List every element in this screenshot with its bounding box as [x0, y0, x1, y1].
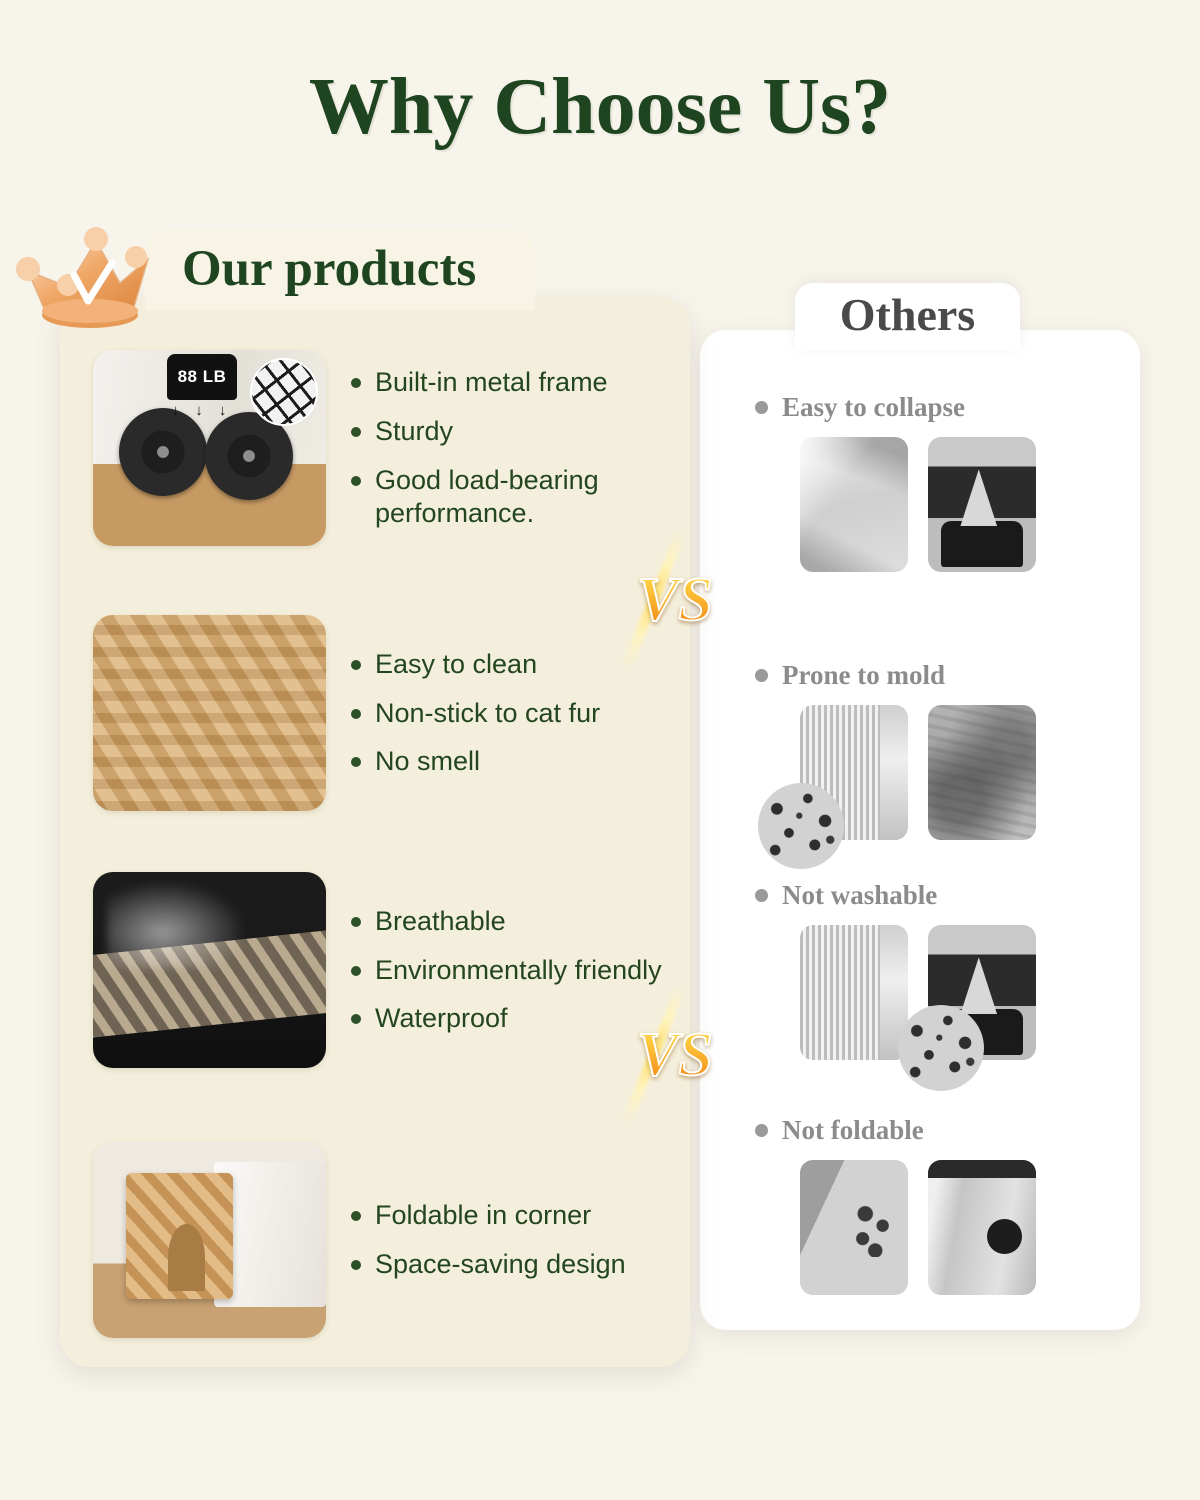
- others-row-heading: Not washable: [700, 880, 1140, 911]
- metal-frame-closeup: [250, 358, 318, 426]
- bullet-label: Built-in metal frame: [375, 366, 608, 399]
- plastic-hooded-box-photo: [928, 1160, 1036, 1295]
- down-arrows-icon: ↓ ↓ ↓: [167, 402, 237, 419]
- others-row-heading: Prone to mold: [700, 660, 1140, 691]
- others-heading-label: Not foldable: [782, 1115, 924, 1146]
- list-item: Breathable: [351, 905, 662, 938]
- product-row-breathable: Breathable Environmentally friendly Wate…: [60, 872, 690, 1068]
- rigid-box-photo: [800, 1160, 908, 1295]
- bullet-dot-icon: [351, 1211, 361, 1221]
- bullet-dot-icon: [755, 401, 768, 414]
- bullet-label: Breathable: [375, 905, 506, 938]
- product-row-foldable: Foldable in corner Space-saving design: [60, 1142, 690, 1338]
- others-row-washable: Not washable: [700, 880, 1140, 1060]
- product-bullet-list: Built-in metal frame Sturdy Good load-be…: [351, 366, 666, 530]
- others-image-pair: [700, 437, 1140, 572]
- bullet-dot-icon: [755, 1124, 768, 1137]
- bullet-dot-icon: [351, 709, 361, 719]
- page-title: Why Choose Us?: [0, 62, 1200, 153]
- bullet-label: Foldable in corner: [375, 1199, 591, 1232]
- weight-plate-left: [119, 408, 207, 496]
- photo-arch-opening: [168, 1224, 205, 1291]
- mold-spores-circle: [758, 783, 844, 869]
- others-heading-label: Prone to mold: [782, 660, 945, 691]
- others-image-pair: [700, 705, 1140, 840]
- others-image-pair: [700, 1160, 1140, 1295]
- product-bullet-list: Easy to clean Non-stick to cat fur No sm…: [351, 648, 600, 779]
- product-row-frame: 88 LB ↓ ↓ ↓ Built-in metal frame Sturdy …: [60, 350, 690, 546]
- bullet-label: Good load-bearing performance.: [375, 464, 666, 530]
- list-item: Good load-bearing performance.: [351, 464, 666, 530]
- list-item: Waterproof: [351, 1002, 662, 1035]
- bullet-dot-icon: [351, 917, 361, 927]
- bullet-dot-icon: [351, 378, 361, 388]
- weight-badge: 88 LB: [167, 354, 237, 400]
- bullet-label: No smell: [375, 745, 480, 778]
- bullet-dot-icon: [351, 966, 361, 976]
- list-item: Space-saving design: [351, 1248, 626, 1281]
- product-bullet-list: Foldable in corner Space-saving design: [351, 1199, 626, 1281]
- others-heading-label: Easy to collapse: [782, 392, 965, 423]
- others-image-pair: [700, 925, 1140, 1060]
- bullet-label: Space-saving design: [375, 1248, 626, 1281]
- others-row-heading: Easy to collapse: [700, 392, 1140, 423]
- list-item: No smell: [351, 745, 600, 778]
- our-products-rows-container: 88 LB ↓ ↓ ↓ Built-in metal frame Sturdy …: [60, 297, 690, 1367]
- product-row-clean: Easy to clean Non-stick to cat fur No sm…: [60, 615, 690, 811]
- bullet-dot-icon: [755, 669, 768, 682]
- bullet-label: Waterproof: [375, 1002, 508, 1035]
- bullet-dot-icon: [351, 427, 361, 437]
- others-rows-container: Easy to collapse Prone to mold Not washa…: [700, 330, 1140, 1330]
- list-item: Sturdy: [351, 415, 666, 448]
- list-item: Built-in metal frame: [351, 366, 666, 399]
- others-row-heading: Not foldable: [700, 1115, 1140, 1146]
- vs-label: VS: [627, 540, 723, 660]
- list-item: Environmentally friendly: [351, 954, 662, 987]
- others-row-collapse: Easy to collapse: [700, 392, 1140, 572]
- mold-stained-wall-photo: [928, 705, 1036, 840]
- vs-badge-bottom: VS: [627, 995, 723, 1115]
- rattan-weave-closeup-photo: [93, 615, 326, 811]
- others-heading-label: Not washable: [782, 880, 937, 911]
- bullet-dot-icon: [351, 1014, 361, 1024]
- bullet-dot-icon: [351, 660, 361, 670]
- bullet-dot-icon: [351, 476, 361, 486]
- bullet-dot-icon: [755, 889, 768, 902]
- photo-steam-mist: [107, 880, 247, 968]
- others-row-mold: Prone to mold: [700, 660, 1140, 840]
- mold-spores-circle: [898, 1005, 984, 1091]
- crumpled-fabric-photo: [800, 437, 908, 572]
- vs-label: VS: [627, 995, 723, 1115]
- bullet-dot-icon: [351, 757, 361, 767]
- ribbed-fabric-photo: [800, 925, 908, 1060]
- list-item: Foldable in corner: [351, 1199, 626, 1232]
- bullet-label: Non-stick to cat fur: [375, 697, 600, 730]
- bullet-dot-icon: [351, 1260, 361, 1270]
- collapsed-litter-box-photo: [928, 437, 1036, 572]
- weights-in-basket-photo: 88 LB ↓ ↓ ↓: [93, 350, 326, 546]
- bullet-label: Environmentally friendly: [375, 954, 662, 987]
- list-item: Non-stick to cat fur: [351, 697, 600, 730]
- vs-badge-top: VS: [627, 540, 723, 660]
- folded-in-corner-photo: [93, 1142, 326, 1338]
- others-row-foldable: Not foldable: [700, 1115, 1140, 1295]
- breathable-steam-photo: [93, 872, 326, 1068]
- bullet-label: Sturdy: [375, 415, 453, 448]
- product-bullet-list: Breathable Environmentally friendly Wate…: [351, 905, 662, 1036]
- list-item: Easy to clean: [351, 648, 600, 681]
- bullet-label: Easy to clean: [375, 648, 537, 681]
